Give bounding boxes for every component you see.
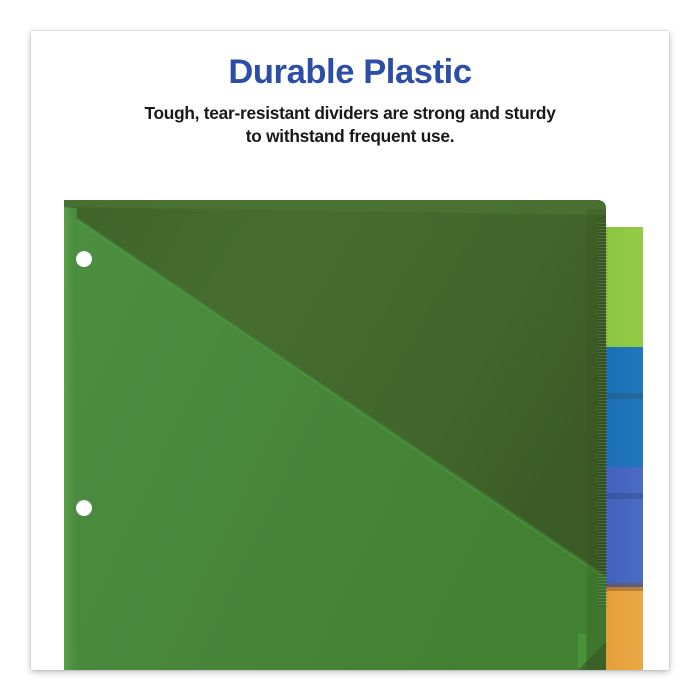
header-block: Durable Plastic Tough, tear-resistant di… [31, 31, 669, 148]
page-title: Durable Plastic [31, 53, 669, 93]
page-subtitle: Tough, tear-resistant dividers are stron… [70, 102, 630, 148]
screenshot-root: Green plastic pocket divider with four c… [0, 0, 700, 700]
page-subtitle-line-2: to withstand frequent use. [246, 126, 455, 146]
page-subtitle-line-1: Tough, tear-resistant dividers are stron… [144, 103, 555, 123]
punch-hole-top [76, 251, 92, 267]
punch-hole-bottom [76, 500, 92, 516]
divider-spine-shade [587, 209, 606, 670]
product-image-card: Green plastic pocket divider with four c… [31, 31, 669, 670]
divider-left-edge [64, 207, 77, 670]
